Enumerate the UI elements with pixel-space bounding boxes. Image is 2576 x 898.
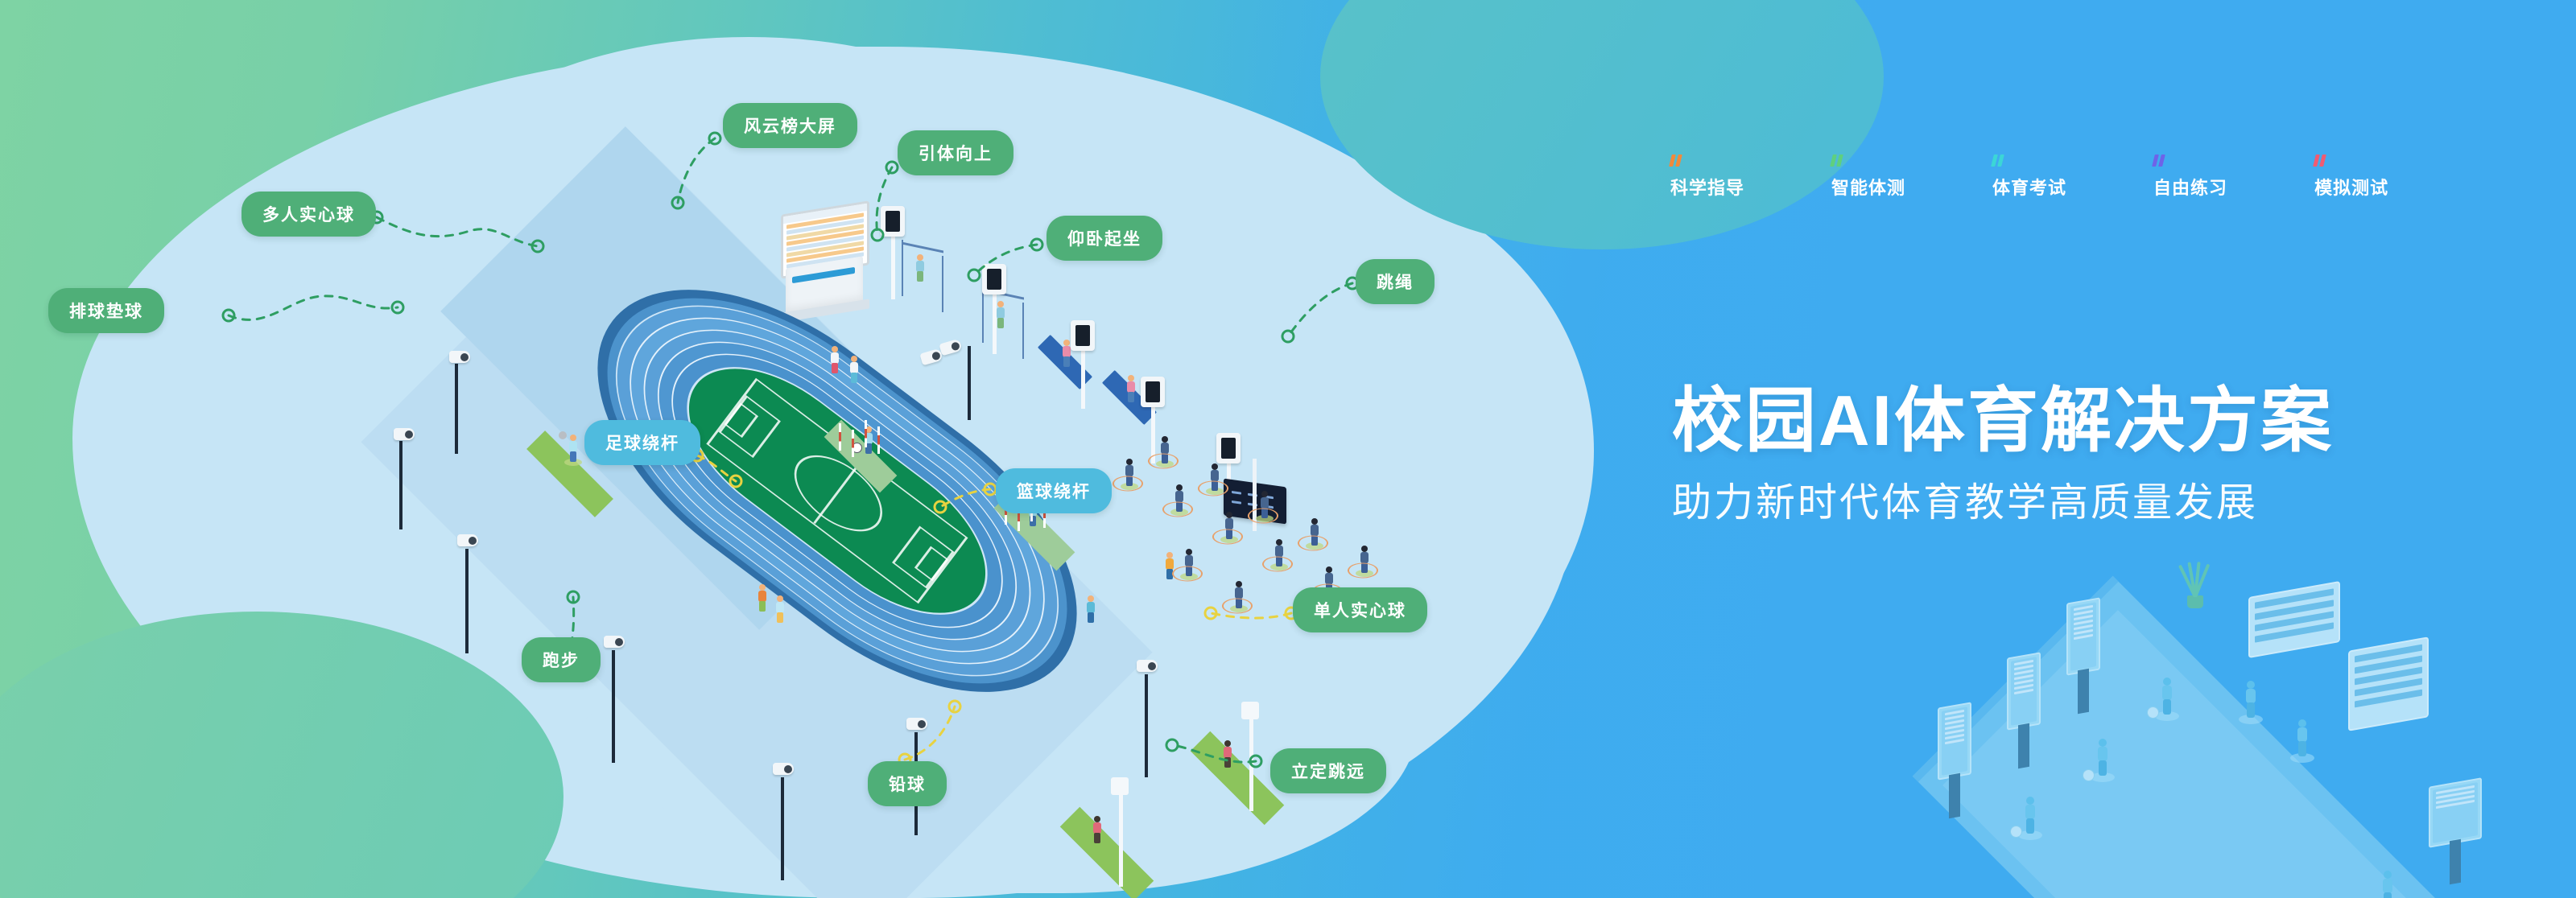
feature-item-kexuezhidao[interactable]: 科学指导 bbox=[1670, 154, 1744, 200]
gym-figure bbox=[2244, 681, 2258, 718]
feature-label: 体育考试 bbox=[1992, 174, 2066, 200]
kiosk-screen-icon bbox=[1938, 702, 1971, 780]
camera-icon bbox=[773, 763, 794, 775]
feature-accent-bars bbox=[1670, 154, 1744, 167]
dashboard-screen-icon bbox=[2348, 636, 2429, 731]
athlete-figure bbox=[1085, 595, 1096, 623]
camera-icon bbox=[781, 777, 784, 880]
gym-figure bbox=[2095, 739, 2110, 776]
longjump-mat bbox=[1060, 807, 1154, 898]
label-lidingtiaoyuan[interactable]: 立定跳远 bbox=[1270, 748, 1386, 793]
page-title: 校园AI体育解决方案 bbox=[1672, 364, 2334, 466]
page-subtitle: 助力新时代体育教学高质量发展 bbox=[1672, 471, 2258, 528]
plant-icon bbox=[2179, 562, 2211, 608]
runner-figure bbox=[848, 356, 860, 383]
feature-accent-bars bbox=[1992, 154, 2066, 167]
kiosk-screen-icon bbox=[2066, 597, 2100, 675]
terminal-post-icon bbox=[982, 264, 1006, 295]
terminal-post-icon bbox=[891, 232, 895, 299]
situp-student bbox=[1125, 375, 1137, 402]
gym-figure bbox=[2295, 719, 2310, 756]
gym-figure bbox=[2160, 678, 2174, 715]
label-zuqiurao[interactable]: 足球绕杆 bbox=[584, 420, 700, 465]
gym-illustration bbox=[1888, 555, 2576, 898]
feature-item-zhinengticeng[interactable]: 智能体测 bbox=[1831, 154, 1905, 200]
longjump-student bbox=[1092, 816, 1103, 843]
terminal-post-icon bbox=[1141, 377, 1165, 407]
label-danren-shixinqiu[interactable]: 单人实心球 bbox=[1293, 587, 1427, 632]
label-paiqiudianqiu[interactable]: 排球垫球 bbox=[48, 288, 164, 333]
camera-icon bbox=[394, 428, 415, 440]
feature-label: 智能体测 bbox=[1831, 174, 1905, 200]
feature-item-tiyukaoshi[interactable]: 体育考试 bbox=[1992, 154, 2066, 200]
label-duoren-shixinqiu[interactable]: 多人实心球 bbox=[242, 192, 376, 237]
camera-icon bbox=[457, 534, 478, 546]
runner-figure bbox=[829, 346, 840, 373]
ball-icon bbox=[2083, 769, 2095, 781]
kiosk-screen-icon bbox=[2429, 777, 2482, 848]
dashboard-screen-icon bbox=[2248, 581, 2340, 658]
feature-item-moniceshi[interactable]: 模拟测试 bbox=[2314, 154, 2388, 200]
feature-label: 科学指导 bbox=[1670, 174, 1744, 200]
kiosk-screen-icon bbox=[2007, 652, 2041, 730]
hero-banner: 排球垫球 多人实心球 风云榜大屏 引体向上 仰卧起坐 跳绳 足球绕杆 篮球绕杆 … bbox=[0, 0, 2576, 898]
terminal-post-icon bbox=[1081, 346, 1085, 409]
ball-icon bbox=[2147, 706, 2159, 719]
feature-accent-bars bbox=[2314, 154, 2388, 167]
longjump-sensor-pole bbox=[1249, 715, 1253, 811]
label-lanqiurao[interactable]: 篮球绕杆 bbox=[996, 468, 1112, 513]
terminal-post-icon bbox=[1216, 433, 1241, 463]
camera-icon bbox=[968, 346, 971, 420]
camera-icon bbox=[604, 636, 625, 648]
camera-icon bbox=[919, 348, 943, 366]
longjump-sensor-pole bbox=[1119, 790, 1123, 887]
feature-accent-bars bbox=[2153, 154, 2227, 167]
camera-icon bbox=[612, 650, 615, 763]
ball-icon bbox=[2010, 826, 2022, 838]
feature-label: 自由练习 bbox=[2153, 174, 2227, 200]
camera-icon bbox=[939, 339, 962, 356]
label-paobu[interactable]: 跑步 bbox=[522, 637, 601, 682]
label-yangwoqizuo[interactable]: 仰卧起坐 bbox=[1046, 216, 1162, 261]
label-tiaosheng[interactable]: 跳绳 bbox=[1356, 259, 1435, 304]
gym-figure bbox=[2380, 871, 2395, 898]
camera-icon bbox=[465, 549, 469, 653]
camera-icon bbox=[1137, 660, 1158, 672]
longjump-student bbox=[1222, 740, 1233, 768]
pullup-student bbox=[914, 254, 926, 282]
camera-icon bbox=[906, 718, 927, 730]
camera-icon bbox=[399, 441, 402, 529]
label-qianqiu[interactable]: 铅球 bbox=[868, 761, 947, 806]
feature-accent-bars bbox=[1831, 154, 1905, 167]
label-fengyunbang[interactable]: 风云榜大屏 bbox=[723, 103, 857, 148]
gym-figure bbox=[2023, 797, 2037, 834]
feature-item-ziyoulianxi[interactable]: 自由练习 bbox=[2153, 154, 2227, 200]
terminal-post-icon bbox=[1071, 320, 1095, 351]
label-yintixiangshang[interactable]: 引体向上 bbox=[898, 130, 1013, 175]
camera-icon bbox=[1145, 674, 1148, 777]
terminal-post-icon bbox=[993, 290, 997, 354]
stadium-illustration bbox=[266, 105, 1393, 893]
longjump-sensor-icon bbox=[1241, 702, 1259, 719]
terminal-post-icon bbox=[881, 206, 905, 237]
pullup-student bbox=[995, 301, 1006, 328]
runner-figure bbox=[774, 595, 786, 623]
feature-list: 科学指导 智能体测 体育考试 自由练习 模拟测试 bbox=[1670, 154, 2388, 200]
feature-label: 模拟测试 bbox=[2314, 174, 2388, 200]
runner-figure bbox=[757, 584, 768, 612]
longjump-sensor-icon bbox=[1111, 777, 1129, 795]
camera-icon bbox=[455, 364, 458, 454]
camera-icon bbox=[449, 351, 470, 363]
